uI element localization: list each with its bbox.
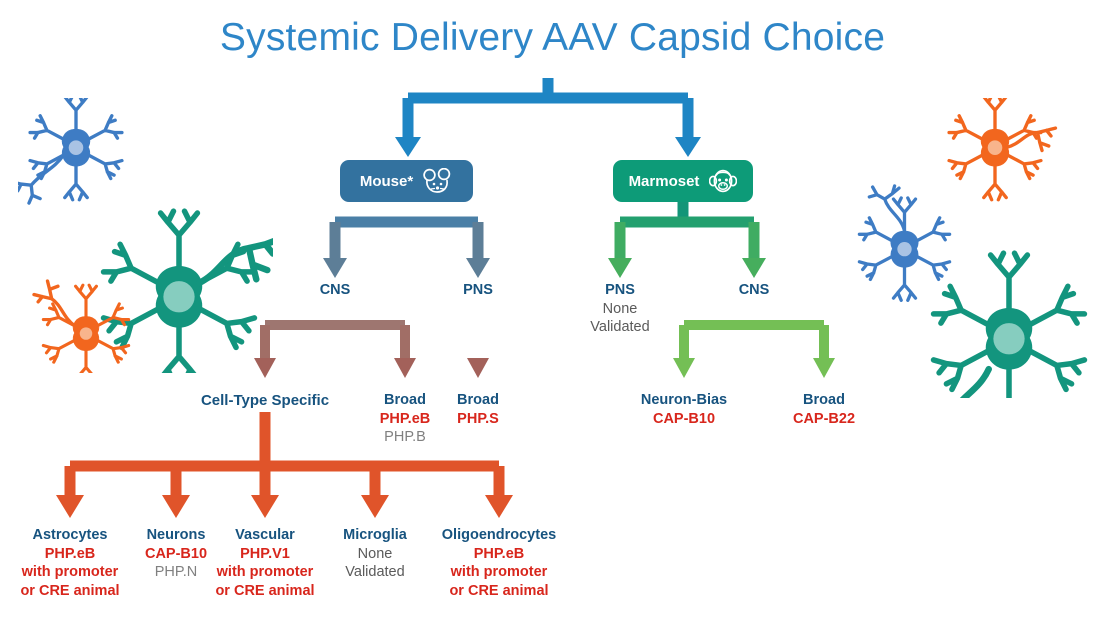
node-none-2: Validated <box>325 563 425 582</box>
node-title: Neuron-Bias <box>619 391 749 410</box>
node-detail-1: with promoter <box>424 563 574 582</box>
neuron-orange <box>949 98 1055 200</box>
node-title: Oligoendrocytes <box>424 526 574 545</box>
wire-mouse-pns <box>467 305 489 378</box>
node-capsid: CAP-B22 <box>769 410 879 429</box>
node-title: Microglia <box>325 526 425 545</box>
node-capsid-secondary: PHP.B <box>355 428 455 447</box>
node-broad-pns: Broad PHP.S <box>428 391 528 428</box>
species-node-marmoset[interactable]: Marmoset <box>613 160 753 202</box>
node-label: CNS <box>704 281 804 300</box>
node-mouse-pns: PNS <box>428 281 528 300</box>
species-node-mouse[interactable]: Mouse* <box>340 160 473 202</box>
node-cell-vascular: Vascular PHP.V1 with promoter or CRE ani… <box>200 526 330 600</box>
node-capsid: PHP.S <box>428 410 528 429</box>
node-label: PNS <box>428 281 528 300</box>
wire-mouse-cns-split <box>254 305 416 378</box>
node-mouse-cns: CNS <box>285 281 385 300</box>
wire-marmoset-cns-split <box>673 305 835 378</box>
node-cell-type-specific: Cell-Type Specific <box>185 391 345 410</box>
node-title: Broad <box>428 391 528 410</box>
node-marmoset-cns: CNS <box>704 281 804 300</box>
node-detail-2: or CRE animal <box>200 582 330 601</box>
wire-root-split <box>395 78 701 157</box>
species-label-mouse: Mouse* <box>360 174 413 189</box>
node-marmoset-pns: PNS None Validated <box>570 281 670 337</box>
mouse-head-icon <box>423 168 453 194</box>
node-cell-oligoendrocytes: Oligoendrocytes PHP.eB with promoter or … <box>424 526 574 600</box>
wire-mouse-split <box>323 202 490 278</box>
node-detail-2: or CRE animal <box>424 582 574 601</box>
node-capsid: PHP.eB <box>424 545 574 564</box>
neuron-blue <box>18 98 122 203</box>
node-detail-1: with promoter <box>200 563 330 582</box>
neuron-teal <box>104 211 273 373</box>
species-label-marmoset: Marmoset <box>629 174 700 189</box>
node-title: Cell-Type Specific <box>185 391 345 410</box>
monkey-head-icon <box>709 167 737 195</box>
neuron-illustration-right <box>855 98 1105 398</box>
node-label: PNS <box>570 281 670 300</box>
neuron-illustration-left <box>18 98 273 373</box>
node-none-1: None <box>570 300 670 319</box>
node-title: Vascular <box>200 526 330 545</box>
node-none-1: None <box>325 545 425 564</box>
node-label: CNS <box>285 281 385 300</box>
node-capsid: PHP.eB <box>5 545 135 564</box>
node-cell-astrocytes: Astrocytes PHP.eB with promoter or CRE a… <box>5 526 135 600</box>
node-capsid: PHP.V1 <box>200 545 330 564</box>
neuron-blue <box>859 186 949 300</box>
node-detail-2: or CRE animal <box>5 582 135 601</box>
node-capsid: CAP-B10 <box>619 410 749 429</box>
node-neuron-bias: Neuron-Bias CAP-B10 <box>619 391 749 428</box>
node-cell-microglia: Microglia None Validated <box>325 526 425 582</box>
wire-marmoset-split <box>608 202 766 278</box>
node-none-2: Validated <box>570 318 670 337</box>
node-title: Astrocytes <box>5 526 135 545</box>
node-detail-1: with promoter <box>5 563 135 582</box>
